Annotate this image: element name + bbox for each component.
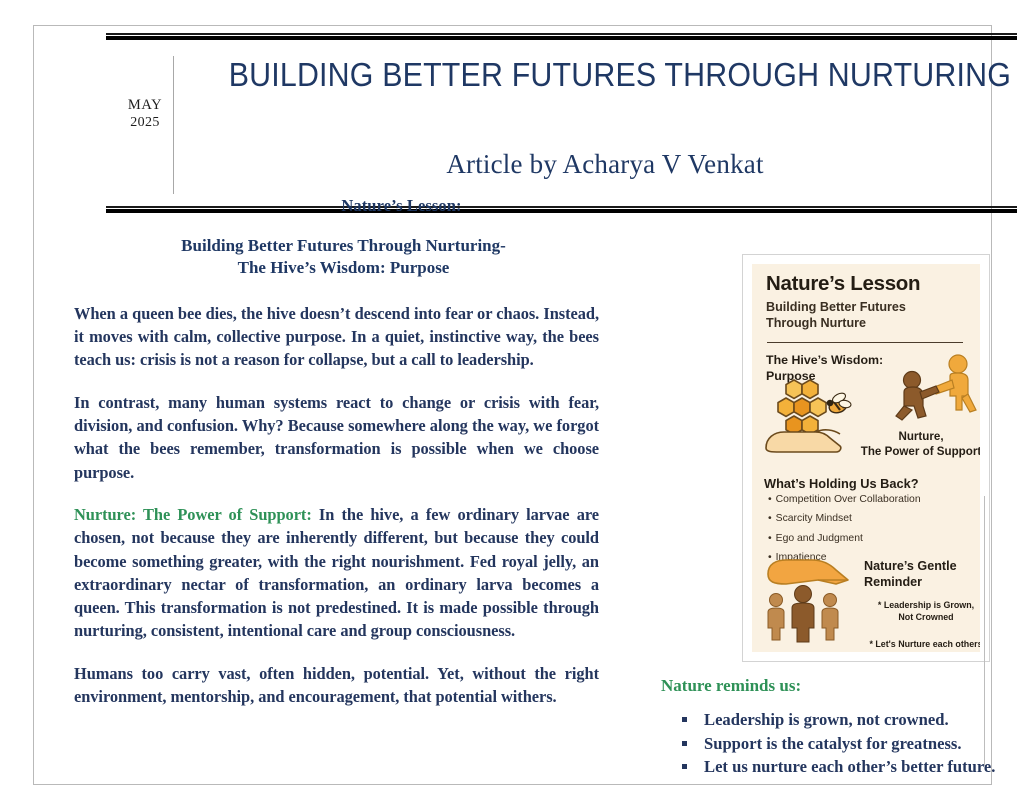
paragraph-2: In contrast, many human systems react to… <box>74 391 599 484</box>
note2-line1: * Let's Nurture each others <box>869 639 980 649</box>
column-divider <box>984 496 985 766</box>
open-hand-icon <box>766 430 841 452</box>
list-item: Let us nurture each other’s better futur… <box>676 755 1024 779</box>
reminds-us-list: Leadership is grown, not crowned. Suppor… <box>676 708 1024 779</box>
list-item: Ego and Judgment <box>768 534 978 544</box>
list-item: Leadership is grown, not crowned. <box>676 708 1024 732</box>
bee-icon <box>827 391 852 415</box>
nurture-caption-line1: Nurture, <box>898 430 943 443</box>
kneeling-figure-brown <box>896 372 939 421</box>
pointing-hand-icon <box>768 560 848 584</box>
infographic-subtitle: Building Better Futures Through Nurture <box>766 299 946 331</box>
infographic-heading-holding-back: What’s Holding Us Back? <box>764 476 919 491</box>
issue-year: 2025 <box>116 114 174 132</box>
infographic-panel: Nature’s Lesson Building Better Futures … <box>752 264 980 652</box>
infographic-heading-reminder: Nature’s Gentle Reminder <box>864 559 980 591</box>
reminds-us-title: Nature reminds us: <box>661 676 801 696</box>
reminder-heading-line1: Nature’s Gentle <box>864 559 957 573</box>
standing-figure-orange <box>932 355 976 412</box>
list-item: Scarcity Mindset <box>768 514 978 524</box>
infographic-title: Nature’s Lesson <box>766 272 920 296</box>
reminder-heading-line2: Reminder <box>864 575 922 589</box>
infographic-note-nurture: * Let's Nurture each others Better Futur… <box>856 639 980 652</box>
paragraph-3-nurture: Nurture: The Power of Support: In the hi… <box>74 503 599 643</box>
list-item: Support is the catalyst for greatness. <box>676 732 1024 756</box>
document-page: MAY 2025 BUILDING BETTER FUTURES THROUGH… <box>33 25 992 785</box>
section-title: Nature’s Lesson: <box>74 196 599 216</box>
article-subtitle-line2: The Hive’s Wisdom: Purpose <box>238 258 450 277</box>
byline: Article by Acharya V Venkat <box>196 149 1014 180</box>
infographic-subtitle-line1: Building Better Futures <box>766 300 906 314</box>
header-rule-top <box>106 33 1017 41</box>
article-subtitle: Building Better Futures Through Nurturin… <box>74 235 599 280</box>
nurture-caption-line2: The Power of Support <box>861 445 980 458</box>
paragraph-1: When a queen bee dies, the hive doesn’t … <box>74 302 599 372</box>
masthead-divider <box>173 56 174 194</box>
page-title: BUILDING BETTER FUTURES THROUGH NURTURIN… <box>229 56 982 94</box>
rule-line-thin <box>106 33 1017 35</box>
rule-line-thick <box>106 36 1017 40</box>
article-left-column: Nature’s Lesson: Building Better Futures… <box>74 196 599 708</box>
issue-month: MAY <box>116 96 174 114</box>
infographic-card: Nature’s Lesson Building Better Futures … <box>742 254 990 662</box>
infographic-divider <box>767 342 963 343</box>
person-group-icon <box>768 586 838 643</box>
pointing-hand-people-illustration <box>760 554 860 651</box>
issue-date: MAY 2025 <box>116 96 174 132</box>
nurture-body: In the hive, a few ordinary larvae are c… <box>74 505 599 640</box>
infographic-note-leadership: * Leadership is Grown, Not Crowned <box>860 600 980 624</box>
infographic-caption-nurture: Nurture, The Power of Support <box>846 430 980 460</box>
hive-heading-line1: The Hive’s Wisdom: <box>766 353 883 367</box>
infographic-subtitle-line2: Through Nurture <box>766 316 866 330</box>
nurture-lead-in: Nurture: The Power of Support: <box>74 505 312 524</box>
note1-line2: Not Crowned <box>898 612 953 622</box>
article-subtitle-line1: Building Better Futures Through Nurturin… <box>181 236 506 255</box>
list-item: Competition Over Collaboration <box>768 495 978 505</box>
masthead: MAY 2025 BUILDING BETTER FUTURES THROUGH… <box>106 54 1017 200</box>
article-content: Nature’s Lesson: Building Better Futures… <box>74 196 993 756</box>
helping-hands-illustration <box>892 354 980 437</box>
paragraph-4: Humans too carry vast, often hidden, pot… <box>74 662 599 709</box>
note1-line1: * Leadership is Grown, <box>878 600 974 610</box>
note2-line2: Better Future's <box>895 651 958 652</box>
